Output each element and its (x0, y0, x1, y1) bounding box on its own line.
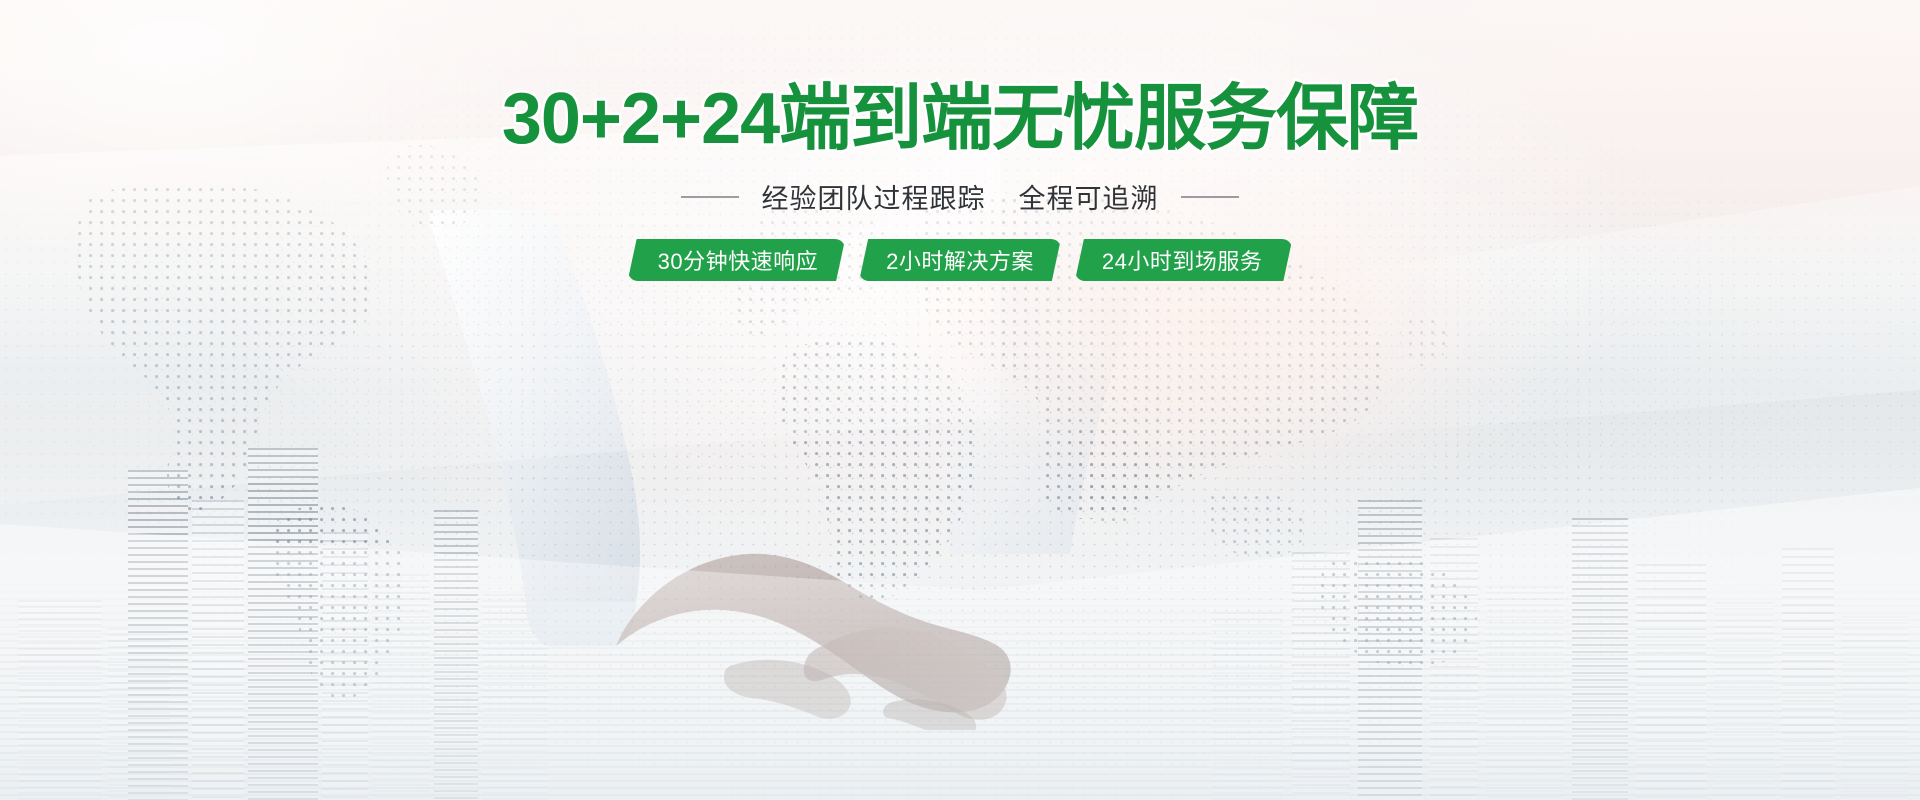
page-title: 30+2+24端到端无忧服务保障 (0, 83, 1920, 155)
banner-content: 30+2+24端到端无忧服务保障 经验团队过程跟踪 全程可追溯 30分钟快速响应… (0, 0, 1920, 281)
divider-dash-right (1181, 196, 1239, 198)
subtitle: 经验团队过程跟踪 全程可追溯 (761, 177, 1158, 216)
badge-response-time[interactable]: 30分钟快速响应 (628, 239, 845, 281)
badge-solution-time[interactable]: 2小时解决方案 (859, 239, 1061, 281)
subtitle-left-text: 经验团队过程跟踪 (761, 184, 985, 214)
service-badge-list: 30分钟快速响应 2小时解决方案 24小时到场服务 (0, 239, 1920, 281)
divider-dash-left (681, 196, 739, 198)
service-guarantee-banner: 30+2+24端到端无忧服务保障 经验团队过程跟踪 全程可追溯 30分钟快速响应… (0, 0, 1920, 800)
subtitle-row: 经验团队过程跟踪 全程可追溯 (0, 177, 1920, 216)
subtitle-right-text: 全程可追溯 (1019, 184, 1159, 214)
badge-onsite-time[interactable]: 24小时到场服务 (1075, 239, 1292, 281)
